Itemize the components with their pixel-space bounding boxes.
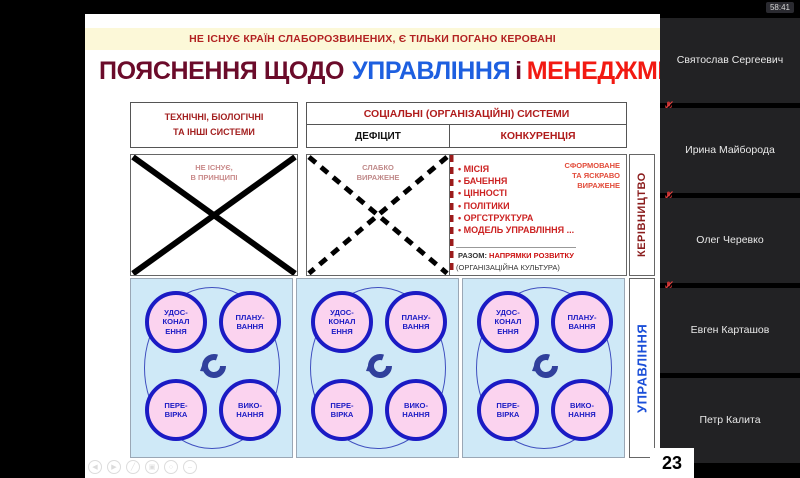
notes-icon[interactable]: ▣ — [145, 460, 159, 474]
pdca-group: УДОС-КОНАЛЕННЯ ПЛАНУ-ВАННЯ ПЕРЕ-ВІРКА ВИ… — [130, 278, 293, 458]
slide-banner: НЕ ІСНУЄ КРАЇН СЛАБОРОЗВИНЕНИХ, Є ТІЛЬКИ… — [85, 28, 660, 50]
pdca-groups: УДОС-КОНАЛЕННЯ ПЛАНУ-ВАННЯ ПЕРЕ-ВІРКА ВИ… — [130, 278, 627, 458]
zoom-meeting-window: НЕ ІСНУЄ КРАЇН СЛАБОРОЗВИНЕНИХ, Є ТІЛЬКИ… — [0, 0, 800, 478]
cell-deficit: СЛАБКО ВИРАЖЕНЕ — [306, 154, 450, 276]
bullet-item: • ОРГСТРУКТУРА — [458, 212, 566, 224]
pdca-node-check: ПЕРЕ-ВІРКА — [311, 379, 373, 441]
label-governance: УПРАВЛІННЯ — [629, 278, 655, 458]
participant-name: Евген Карташов — [686, 324, 775, 337]
play-icon[interactable]: ▶ — [107, 460, 121, 474]
summary-prefix: РАЗОМ: — [458, 251, 489, 260]
pdca-node-check: ПЕРЕ-ВІРКА — [477, 379, 539, 441]
shared-slide: НЕ ІСНУЄ КРАЇН СЛАБОРОЗВИНЕНИХ, Є ТІЛЬКИ… — [85, 14, 660, 478]
magnify-icon[interactable]: ○ — [164, 460, 178, 474]
bullet-item: • БАЧЕННЯ — [458, 175, 566, 187]
participant-tile[interactable]: Евген Карташов — [660, 288, 800, 373]
pdca-node-do: ВИКО-НАННЯ — [551, 379, 613, 441]
slide-controls[interactable]: ◀ ▶ ╱ ▣ ○ – — [88, 460, 197, 474]
pdca-node-do: ВИКО-НАННЯ — [219, 379, 281, 441]
pdca-node-improve: УДОС-КОНАЛЕННЯ — [477, 291, 539, 353]
header-deficit-text: ДЕФІЦИТ — [355, 131, 401, 142]
header-technical-systems: ТЕХНІЧНІ, БІОЛОГІЧНІ ТА ІНШІ СИСТЕМИ — [130, 102, 298, 148]
summary-divider — [456, 247, 576, 248]
title-part2: УПРАВЛІННЯ — [344, 57, 510, 86]
pdca-group: УДОС-КОНАЛЕННЯ ПЛАНУ-ВАННЯ ПЕРЕ-ВІРКА ВИ… — [296, 278, 459, 458]
pdca-node-do: ВИКО-НАННЯ — [385, 379, 447, 441]
cycle-arrow-icon — [531, 351, 561, 381]
summary-bold: НАПРЯМКИ РОЗВИТКУ — [489, 251, 574, 260]
cycle-arrow-icon — [199, 351, 229, 381]
participant-name: Святослав Сергеевич — [672, 54, 788, 67]
cross-out-dashed-icon — [307, 155, 449, 275]
table-body-row-1: НЕ ІСНУЄ, В ПРИНЦИПІ СЛАБКО ВИРАЖЕНЕ — [130, 154, 627, 276]
pdca-node-check: ПЕРЕ-ВІРКА — [145, 379, 207, 441]
concept-table: ТЕХНІЧНІ, БІОЛОГІЧНІ ТА ІНШІ СИСТЕМИ СОЦ… — [130, 102, 627, 462]
back-icon[interactable]: ◀ — [88, 460, 102, 474]
cross-out-solid-icon — [131, 155, 297, 276]
participant-name: Ирина Майборода — [680, 144, 780, 157]
bullet-item: • ПОЛІТИКИ — [458, 200, 566, 212]
slide-title: ПОЯСНЕННЯ ЩОДО УПРАВЛІННЯ і МЕНЕДЖМЕНТ — [99, 54, 660, 88]
participant-name: Олег Черевко — [691, 234, 768, 247]
header-competition: КОНКУРЕНЦІЯ — [449, 124, 627, 148]
meeting-timer: 58:41 — [766, 2, 794, 13]
bullet-item: • МОДЕЛЬ УПРАВЛІННЯ ... — [458, 224, 566, 236]
minus-icon[interactable]: – — [183, 460, 197, 474]
cycle-arrow-icon — [365, 351, 395, 381]
page-number-badge: 23 — [650, 448, 694, 478]
header-technical-line1: ТЕХНІЧНІ, БІОЛОГІЧНІ — [165, 110, 264, 125]
participant-tile[interactable]: Олег Черевко — [660, 198, 800, 283]
slide-banner-text: НЕ ІСНУЄ КРАЇН СЛАБОРОЗВИНЕНИХ, Є ТІЛЬКИ… — [189, 33, 556, 45]
pen-icon[interactable]: ╱ — [126, 460, 140, 474]
dashed-divider-icon — [449, 155, 454, 276]
header-social-text: СОЦІАЛЬНІ (ОРГАНІЗАЦІЙНІ) СИСТЕМИ — [364, 108, 570, 120]
label-leadership: КЕРІВНИЦТВО — [629, 154, 655, 276]
pdca-group: УДОС-КОНАЛЕННЯ ПЛАНУ-ВАННЯ ПЕРЕ-ВІРКА ВИ… — [462, 278, 625, 458]
participant-list: Святослав Сергеевич Ирина Майборода — [660, 0, 800, 463]
header-social-systems: СОЦІАЛЬНІ (ОРГАНІЗАЦІЙНІ) СИСТЕМИ — [306, 102, 627, 125]
header-deficit: ДЕФІЦИТ — [306, 124, 450, 148]
summary-line: РАЗОМ: НАПРЯМКИ РОЗВИТКУ — [458, 251, 574, 260]
summary-sub: (ОРГАНІЗАЦІЙНА КУЛЬТУРА) — [456, 263, 560, 272]
title-separator: і — [510, 57, 527, 86]
participant-rail: 58:41 Святослав Сергеевич Ирина Майбород… — [660, 0, 800, 478]
cell-competition: СФОРМОВАНЕ ТА ЯСКРАВО ВИРАЖЕНЕ • МІСІЯ •… — [449, 154, 627, 276]
title-part1: ПОЯСНЕННЯ ЩОДО — [99, 57, 344, 86]
title-part3: МЕНЕДЖМЕНТ — [527, 57, 660, 86]
pdca-node-improve: УДОС-КОНАЛЕННЯ — [145, 291, 207, 353]
pdca-node-plan: ПЛАНУ-ВАННЯ — [551, 291, 613, 353]
cell-technical: НЕ ІСНУЄ, В ПРИНЦИПІ — [130, 154, 298, 276]
participant-tile[interactable]: Ирина Майборода — [660, 108, 800, 193]
header-technical-line2: ТА ІНШІ СИСТЕМИ — [173, 125, 255, 140]
pdca-node-plan: ПЛАНУ-ВАННЯ — [219, 291, 281, 353]
bullet-item: • МІСІЯ — [458, 163, 566, 175]
competition-bullet-list: • МІСІЯ • БАЧЕННЯ • ЦІННОСТІ • ПОЛІТИКИ … — [458, 163, 566, 236]
pdca-node-plan: ПЛАНУ-ВАННЯ — [385, 291, 447, 353]
bullet-item: • ЦІННОСТІ — [458, 187, 566, 199]
participant-tile[interactable]: Святослав Сергеевич — [660, 18, 800, 103]
header-competition-text: КОНКУРЕНЦІЯ — [500, 130, 575, 142]
participant-name: Петр Калита — [694, 414, 765, 427]
pdca-node-improve: УДОС-КОНАЛЕННЯ — [311, 291, 373, 353]
